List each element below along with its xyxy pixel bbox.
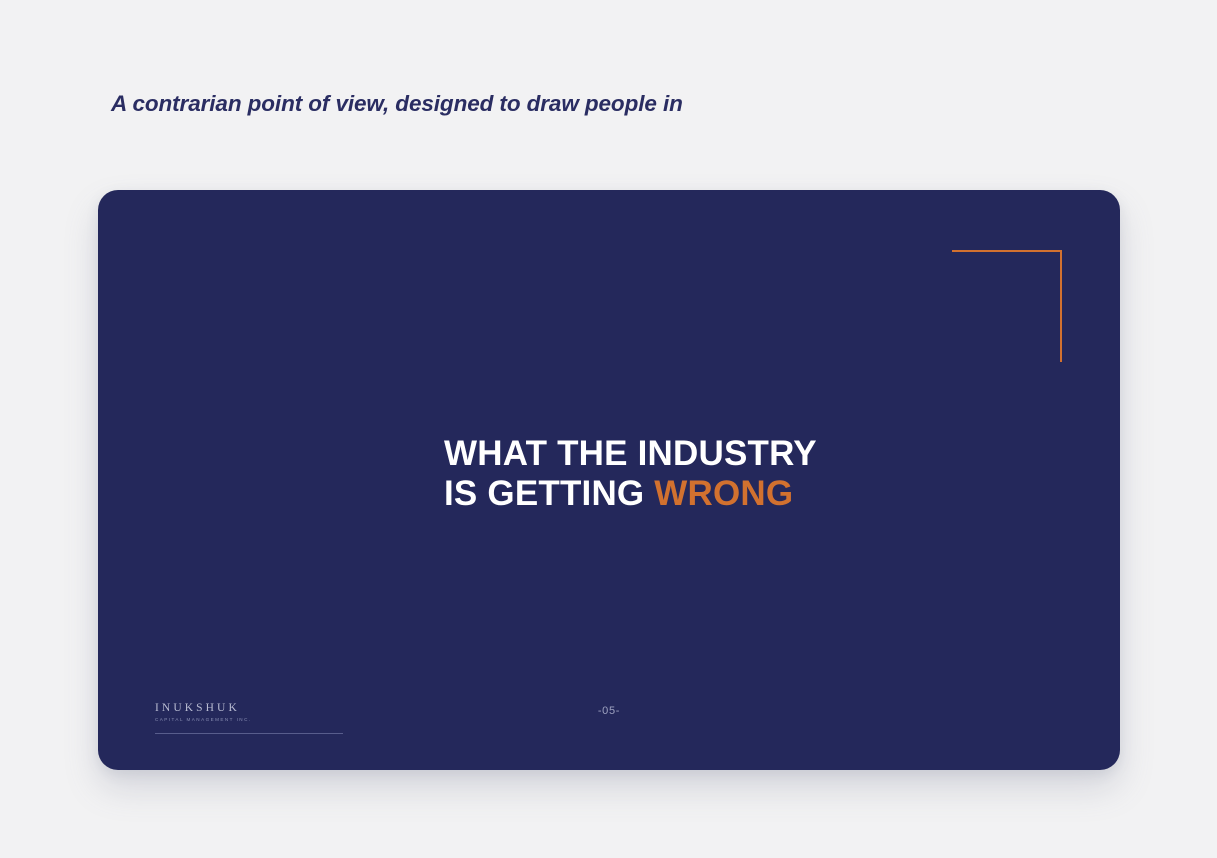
headline-accent-word: WRONG xyxy=(654,474,793,513)
logo-divider xyxy=(155,733,343,734)
corner-bracket-icon xyxy=(952,250,1062,362)
headline-line-2-plain: IS GETTING xyxy=(444,474,654,513)
slide-page-number: -05- xyxy=(98,705,1120,717)
presentation-slide: WHAT THE INDUSTRY IS GETTING WRONG INUKS… xyxy=(98,190,1120,770)
headline-line-2: IS GETTING WRONG xyxy=(444,474,1004,514)
slide-headline: WHAT THE INDUSTRY IS GETTING WRONG xyxy=(444,434,1004,514)
logo-tagline: CAPITAL MANAGEMENT INC. xyxy=(155,716,345,724)
headline-line-1: WHAT THE INDUSTRY xyxy=(444,434,1004,474)
slide-annotation-caption: A contrarian point of view, designed to … xyxy=(111,91,683,117)
